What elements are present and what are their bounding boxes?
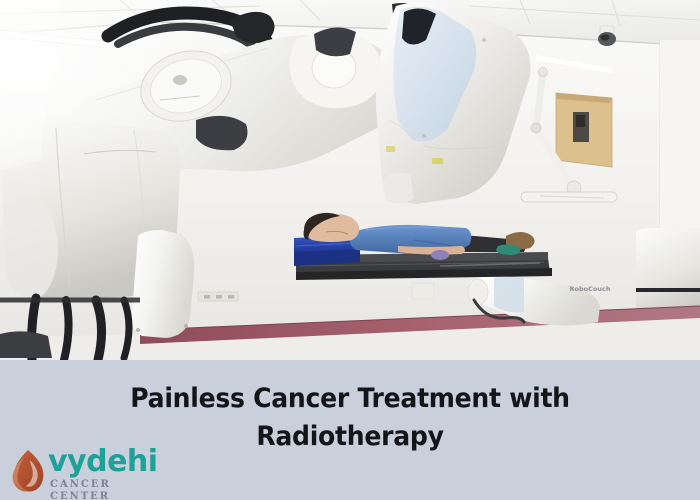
logo-subtitle: CANCER CENTER [50,479,156,500]
wall-plate-small [412,283,434,299]
dome-camera-icon [598,26,616,46]
treatment-room-illustration: RoboCouch [0,0,700,360]
collimator-snout [382,173,414,204]
caution-marker-1 [432,158,443,164]
promo-graphic: RoboCouch [0,0,700,500]
logo-wordmark: vydehi [48,447,158,477]
vydehi-logo[interactable]: vydehi CANCER CENTER [6,444,156,498]
machine-base-foot [0,331,52,358]
wall-outlet [198,292,238,301]
couch-label: RoboCouch [570,285,611,293]
joint-dark-cowl [314,27,356,56]
machine-lower-housing [132,230,195,338]
headline-line-1: Painless Cancer Treatment with [130,383,570,414]
flame-leaf-icon [6,448,50,494]
treatment-room-photo: RoboCouch [0,0,700,360]
patient-hand-object [431,250,449,260]
caution-marker-2 [386,146,395,152]
wall-panel [556,93,612,167]
